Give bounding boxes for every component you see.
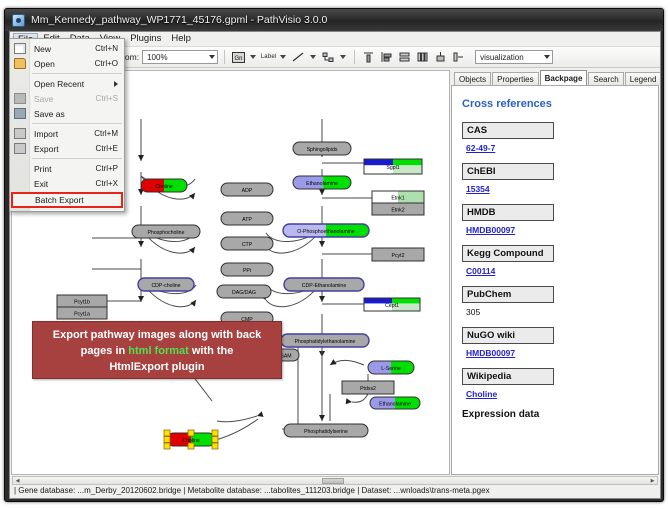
group-icon[interactable] [433, 50, 448, 65]
menu-separator [32, 123, 122, 124]
menu-separator [32, 73, 122, 74]
callout-line-3: HtmlExport plugin [33, 359, 281, 375]
callout-line2-pre: pages in [81, 345, 129, 357]
node-label: L-Serine [381, 366, 401, 372]
chevron-down-icon [209, 55, 215, 59]
tab-objects[interactable]: Objects [454, 72, 491, 85]
xref-link[interactable]: 15354 [466, 184, 658, 194]
pathvisio-icon [12, 14, 25, 27]
selection-handle[interactable] [212, 443, 218, 449]
zoom-combo[interactable]: 100% [142, 50, 218, 64]
xref-link[interactable]: 62-49-7 [466, 143, 658, 153]
pathway-node-phosphatidylserine[interactable]: Phosphatidylserine [284, 424, 368, 437]
xref-block: NuGO wikiHMDB00097 [460, 327, 658, 358]
node-label: SAM [280, 354, 291, 360]
pathway-node-choline-selected[interactable]: Choline [164, 430, 218, 449]
export-icon [14, 143, 26, 154]
node-label: ATP [242, 217, 252, 223]
file-menu-shortcut: Ctrl+P [96, 164, 118, 173]
pathway-gene-cept1[interactable]: Cept1 [364, 298, 420, 311]
gene-label: Pcyt1b [74, 299, 90, 305]
connector-icon[interactable] [321, 50, 336, 65]
file-menu-item-new[interactable]: NewCtrl+N [10, 41, 124, 56]
tab-properties[interactable]: Properties [492, 72, 538, 85]
node-label: CDP-Ethanolamine [302, 283, 347, 289]
gene-label: Etnk1 [391, 195, 404, 201]
pathway-node-dagdag[interactable]: DAG/DAG [217, 285, 271, 298]
menu-help[interactable]: Help [166, 32, 196, 46]
file-menu-item-label: Save [34, 94, 53, 104]
chevron-down-icon[interactable] [340, 55, 346, 59]
pathway-gene-etnk1[interactable]: Etnk1 [372, 191, 424, 203]
node-label: Choline [155, 184, 173, 190]
selection-handle[interactable] [164, 430, 170, 436]
node-label: Phosphatidylserine [304, 429, 348, 435]
status-bar: ◀ ▶ | Gene database: ...m_Derby_20120602… [10, 476, 660, 498]
file-menu-item-label: Export [34, 144, 59, 154]
xref-database-label: Wikipedia [462, 368, 554, 385]
application-window: Mm_Kennedy_pathway_WP1771_45176.gpml - P… [4, 8, 664, 502]
node-label: Sphingolipids [307, 147, 338, 153]
pathway-node-l-serine[interactable]: L-Serine [368, 361, 414, 374]
node-label: Phosphatidylethanolamine [295, 339, 356, 345]
pathway-node-ppi[interactable]: PPi [221, 263, 273, 276]
expression-data-title: Expression data [462, 409, 658, 420]
file-menu-item-label: Open Recent [34, 79, 84, 89]
save-disk-icon [14, 93, 26, 104]
chevron-down-icon [544, 55, 550, 59]
pathway-gene-pcyt1b[interactable]: Pcyt1b [57, 295, 107, 307]
node-label: CDP-choline [151, 283, 180, 289]
node-label: O-Phosphoethanolamine [297, 229, 355, 235]
zoom-value: 100% [147, 53, 167, 62]
file-menu-item-label: Save as [34, 109, 65, 119]
file-menu-shortcut: Ctrl+M [94, 129, 118, 138]
file-menu-item-label: Open [34, 59, 55, 69]
visualization-value: visualization [480, 53, 524, 62]
gene-label: Sgpl1 [386, 165, 399, 171]
annotation-callout: Export pathway images along with back pa… [32, 321, 282, 379]
selection-handle[interactable] [164, 443, 170, 449]
selection-handle[interactable] [164, 437, 170, 443]
gene-product-icon[interactable]: Gn [231, 50, 246, 65]
file-menu-item-label: New [34, 44, 51, 54]
visualization-combo[interactable]: visualization [475, 50, 553, 64]
selection-handle[interactable] [188, 443, 194, 449]
gene-label: Cept1 [385, 303, 399, 309]
pathway-gene-sgpl1[interactable]: Sgpl1 [364, 159, 422, 174]
scrollbar-thumb[interactable] [322, 478, 344, 484]
cross-references-title: Cross references [462, 98, 658, 110]
file-menu-item-label: Print [34, 164, 51, 174]
file-menu-item-batch-export[interactable]: Batch Export [11, 192, 123, 208]
pathway-node-sphingolipids[interactable]: Sphingolipids [293, 142, 351, 155]
gene-label: Etnk2 [391, 207, 404, 213]
file-menu-item-label: Exit [34, 179, 48, 189]
xref-database-label: HMDB [462, 204, 554, 221]
node-label: DAG/DAG [232, 290, 256, 296]
gene-label: Pcyt1a [74, 311, 90, 317]
pathway-node-atp[interactable]: ATP [221, 212, 273, 225]
xref-block: WikipediaCholine [460, 368, 658, 399]
distribute-vertical-icon[interactable] [397, 50, 412, 65]
chevron-right-icon [114, 81, 118, 87]
node-label: PPi [243, 268, 251, 274]
gene-label: Pcyt2 [392, 253, 405, 259]
xref-block: CAS62-49-7 [460, 122, 658, 153]
title-bar: Mm_Kennedy_pathway_WP1771_45176.gpml - P… [5, 9, 663, 31]
sidebar-tabs: Objects Properties Backpage Search Legen… [451, 70, 659, 85]
tab-search[interactable]: Search [588, 72, 623, 85]
callout-highlight: html format [128, 345, 189, 357]
xref-link[interactable]: HMDB00097 [466, 348, 658, 358]
file-menu-shortcut: Ctrl+O [95, 59, 118, 68]
gene-label: Ptdss2 [360, 386, 376, 392]
xref-block: ChEBI15354 [460, 163, 658, 194]
scroll-left-icon[interactable]: ◀ [13, 477, 22, 484]
node-label: Ethanolamine [379, 402, 411, 408]
align-left-icon[interactable] [379, 50, 394, 65]
callout-line-1: Export pathway images along with back [33, 327, 281, 343]
xref-link[interactable]: C00114 [466, 266, 658, 276]
xref-block: PubChem305 [460, 286, 658, 317]
open-folder-icon [14, 58, 26, 69]
callout-line2-post: with the [189, 345, 234, 357]
cross-reference-list: CAS62-49-7ChEBI15354HMDBHMDB00097Kegg Co… [460, 122, 658, 399]
xref-link[interactable]: Choline [466, 389, 658, 399]
file-menu-item-label: Batch Export [35, 195, 84, 205]
xref-link[interactable]: HMDB00097 [466, 225, 658, 235]
scroll-right-icon[interactable]: ▶ [648, 477, 657, 484]
new-document-icon [14, 43, 26, 54]
selection-handle[interactable] [188, 430, 194, 436]
pathway-gene-pcyt2[interactable]: Pcyt2 [372, 248, 424, 261]
save-as-icon [14, 108, 26, 119]
pathway-gene-ptdss2[interactable]: Ptdss2 [342, 381, 394, 394]
menu-separator [32, 158, 122, 159]
chevron-down-icon[interactable] [310, 55, 316, 59]
xref-block: Kegg CompoundC00114 [460, 245, 658, 276]
pathway-node-o-phosphoethanolamine[interactable]: O-Phosphoethanolamine [283, 224, 369, 237]
file-menu-item-import[interactable]: ImportCtrl+M [10, 126, 124, 141]
pathway-node-phosphocholine[interactable]: Phosphocholine [132, 225, 200, 238]
toolbar-separator [354, 50, 355, 64]
file-menu-item-label: Import [34, 129, 58, 139]
file-menu-shortcut: Ctrl+E [96, 144, 118, 153]
file-menu-shortcut: Ctrl+X [96, 179, 118, 188]
node-label: Ethanolamine [306, 181, 338, 187]
file-menu-item-print[interactable]: PrintCtrl+P [10, 161, 124, 176]
pathway-gene-etnk2[interactable]: Etnk2 [372, 203, 424, 215]
status-text: | Gene database: ...m_Derby_20120602.bri… [14, 486, 490, 495]
pathway-node-ethanolamine[interactable]: Ethanolamine [293, 176, 351, 189]
pathway-node-cdp-ethanolamine[interactable]: CDP-Ethanolamine [284, 278, 364, 291]
xref-database-label: CAS [462, 122, 554, 139]
window-title: Mm_Kennedy_pathway_WP1771_45176.gpml - P… [31, 14, 327, 26]
selection-handle[interactable] [212, 430, 218, 436]
line-icon[interactable] [291, 50, 306, 65]
file-menu-item-open[interactable]: OpenCtrl+O [10, 56, 124, 71]
align-top-icon[interactable] [361, 50, 376, 65]
pathway-gene-pcyt1a[interactable]: Pcyt1a [57, 307, 107, 319]
file-menu-item-export[interactable]: ExportCtrl+E [10, 141, 124, 156]
file-menu-shortcut: Ctrl+N [95, 44, 118, 53]
backpage-content: Cross references CAS62-49-7ChEBI15354HMD… [451, 85, 659, 475]
horizontal-scrollbar[interactable]: ◀ ▶ [12, 476, 658, 485]
file-menu-shortcut: Ctrl+S [96, 94, 118, 103]
selection-handle[interactable] [212, 437, 218, 443]
pathway-node-adp[interactable]: ADP [221, 183, 273, 196]
chevron-down-icon[interactable] [280, 55, 286, 59]
file-menu-item-save-as[interactable]: Save as [10, 106, 124, 121]
file-menu-item-open-recent[interactable]: Open Recent [10, 76, 124, 91]
pathway-node-ctp[interactable]: CTP [221, 237, 273, 250]
xref-database-label: ChEBI [462, 163, 554, 180]
stack-icon[interactable] [451, 50, 466, 65]
file-menu-item-save: SaveCtrl+S [10, 91, 124, 106]
pathway-node-cdp-choline[interactable]: CDP-choline [138, 278, 194, 291]
callout-line-2: pages in html format with the [33, 343, 281, 359]
node-label: CTP [242, 242, 253, 248]
tab-legend[interactable]: Legend [625, 72, 661, 85]
label-icon[interactable]: Label [261, 50, 276, 65]
svg-text:Gn: Gn [235, 56, 243, 62]
sidebar-panel: Objects Properties Backpage Search Legen… [451, 70, 659, 475]
pathway-node-ethanolamine2[interactable]: Ethanolamine [370, 397, 420, 409]
node-label: ADP [242, 188, 253, 194]
chevron-down-icon[interactable] [250, 55, 256, 59]
pathway-node-choline[interactable]: Choline [141, 179, 187, 192]
xref-database-label: NuGO wiki [462, 327, 554, 344]
file-menu-dropdown[interactable]: NewCtrl+NOpenCtrl+OOpen RecentSaveCtrl+S… [9, 38, 125, 212]
xref-value: 305 [466, 307, 658, 317]
menu-plugins[interactable]: Plugins [125, 32, 166, 46]
xref-block: HMDBHMDB00097 [460, 204, 658, 235]
pathway-node-phosphatidylethanolamine[interactable]: Phosphatidylethanolamine [281, 334, 369, 347]
xref-database-label: Kegg Compound [462, 245, 554, 262]
toolbar-separator [224, 50, 225, 64]
distribute-horizontal-icon[interactable] [415, 50, 430, 65]
node-label: Phosphocholine [148, 230, 185, 236]
tab-backpage[interactable]: Backpage [540, 70, 588, 85]
import-icon [14, 128, 26, 139]
file-menu-item-exit[interactable]: ExitCtrl+X [10, 176, 124, 191]
xref-database-label: PubChem [462, 286, 554, 303]
